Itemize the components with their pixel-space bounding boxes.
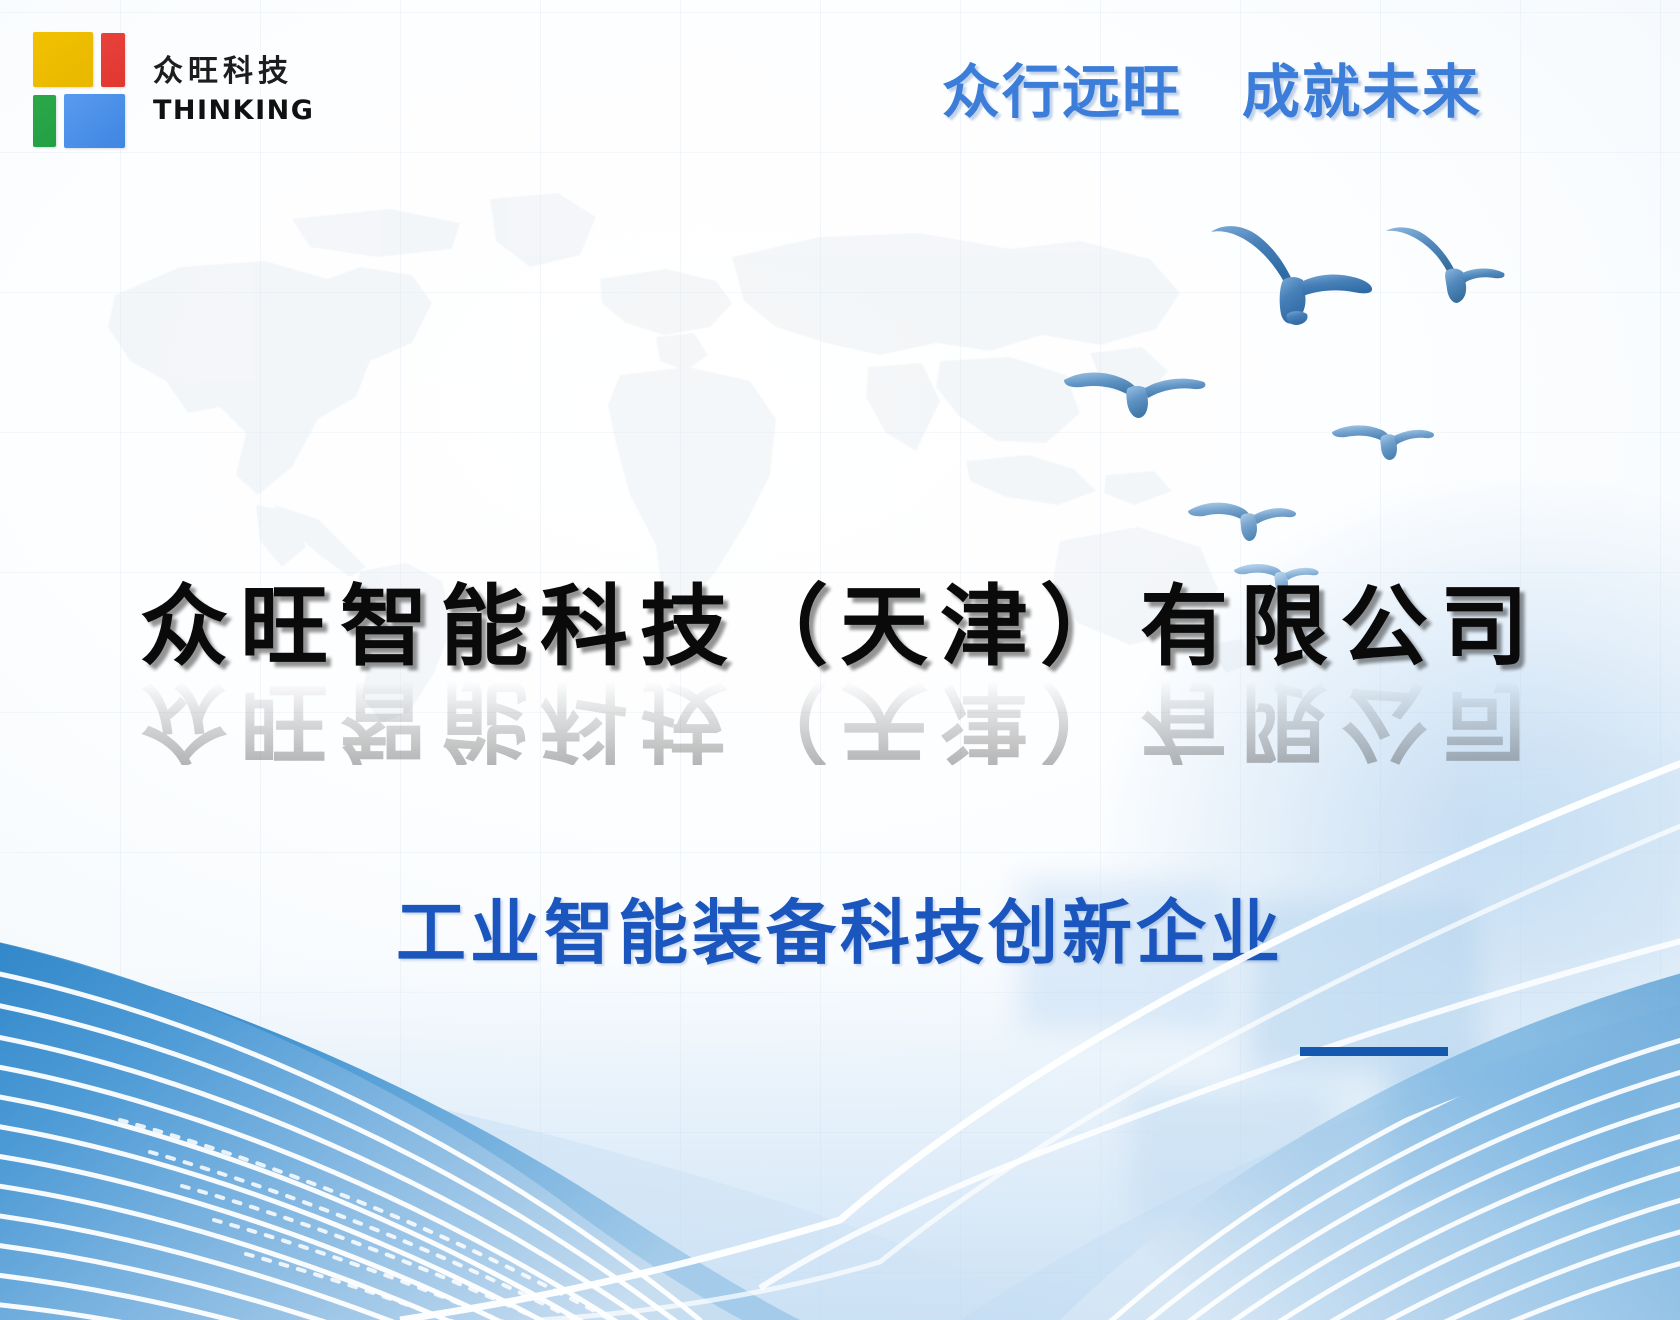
red-block-icon bbox=[101, 33, 125, 87]
logo-text-group: 众旺科技 THINKING bbox=[153, 57, 314, 124]
logo-company-name-en: THINKING bbox=[153, 97, 314, 124]
accent-bar bbox=[1300, 1047, 1448, 1056]
blue-ribbon-waves bbox=[0, 700, 1680, 1320]
four-block-logo-icon bbox=[33, 32, 127, 148]
logo-company-name-cn: 众旺科技 bbox=[153, 57, 314, 87]
blue-block-icon bbox=[64, 94, 125, 148]
yellow-block-icon bbox=[33, 32, 93, 87]
presentation-slide: 众旺科技 THINKING 众行远旺 成就未来 众旺智能科技（天津）有限公司 众… bbox=[0, 0, 1680, 1320]
page-title: 众旺智能科技（天津）有限公司 bbox=[0, 583, 1680, 671]
green-block-icon bbox=[33, 95, 56, 147]
company-logo[interactable]: 众旺科技 THINKING bbox=[33, 32, 314, 148]
header-tagline: 众行远旺 成就未来 bbox=[942, 63, 1482, 121]
